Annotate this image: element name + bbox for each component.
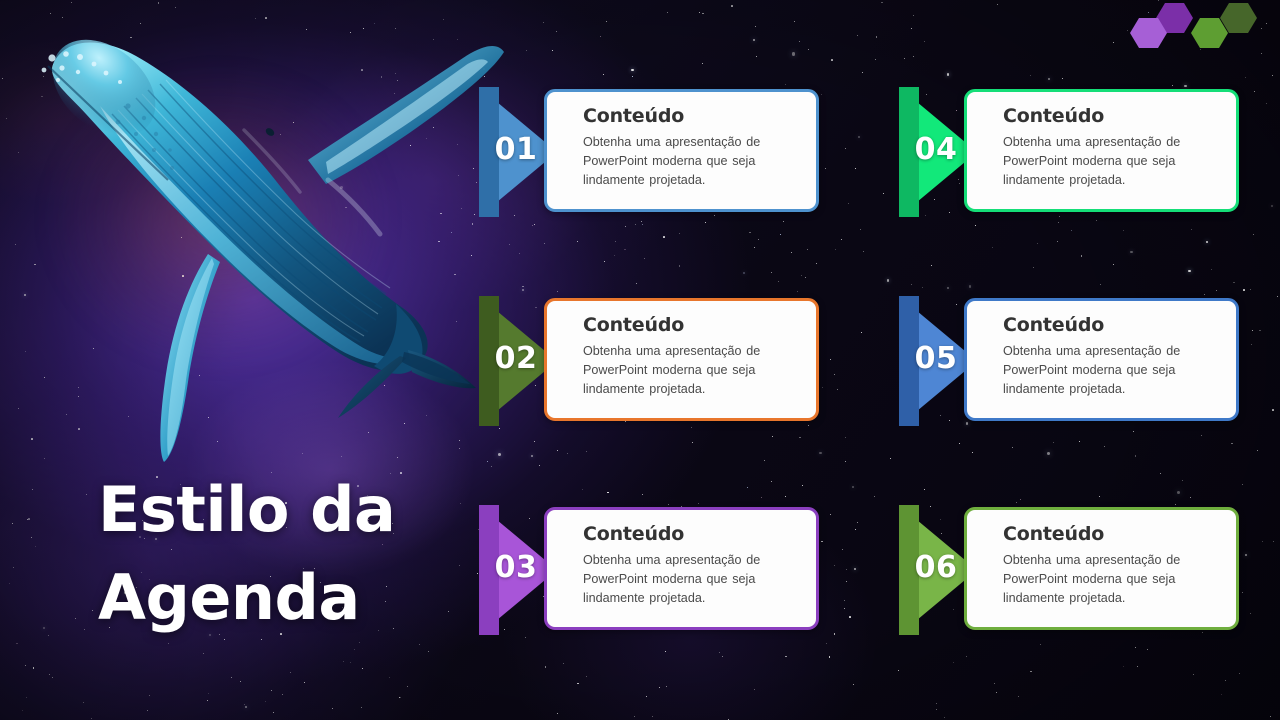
item-card: Conteúdo Obtenha uma apresentação de Pow… [544, 89, 819, 212]
item-body: Obtenha uma apresentação de PowerPoint m… [1003, 133, 1222, 190]
agenda-item-05[interactable]: 05 Conteúdo Obtenha uma apresentação de … [899, 294, 1239, 429]
slide-title: Estilo da Agenda [98, 466, 478, 642]
agenda-item-01[interactable]: 01 Conteúdo Obtenha uma apresentação de … [479, 85, 819, 220]
slide-canvas: Estilo da Agenda 01 Conteúdo Obtenha uma… [0, 0, 1280, 720]
item-heading: Conteúdo [1003, 523, 1222, 545]
item-card: Conteúdo Obtenha uma apresentação de Pow… [964, 507, 1239, 630]
hexagon-logo [1128, 0, 1274, 52]
item-card: Conteúdo Obtenha uma apresentação de Pow… [964, 89, 1239, 212]
item-heading: Conteúdo [583, 523, 802, 545]
item-heading: Conteúdo [1003, 314, 1222, 336]
item-body: Obtenha uma apresentação de PowerPoint m… [1003, 551, 1222, 608]
hex-dark-olive-icon [1220, 3, 1257, 33]
hex-green-icon [1191, 18, 1228, 48]
agenda-item-02[interactable]: 02 Conteúdo Obtenha uma apresentação de … [479, 294, 819, 429]
agenda-item-03[interactable]: 03 Conteúdo Obtenha uma apresentação de … [479, 503, 819, 638]
item-body: Obtenha uma apresentação de PowerPoint m… [583, 133, 802, 190]
agenda-item-04[interactable]: 04 Conteúdo Obtenha uma apresentação de … [899, 85, 1239, 220]
item-heading: Conteúdo [583, 314, 802, 336]
item-heading: Conteúdo [1003, 105, 1222, 127]
item-body: Obtenha uma apresentação de PowerPoint m… [583, 551, 802, 608]
item-body: Obtenha uma apresentação de PowerPoint m… [1003, 342, 1222, 399]
item-heading: Conteúdo [583, 105, 802, 127]
agenda-item-06[interactable]: 06 Conteúdo Obtenha uma apresentação de … [899, 503, 1239, 638]
item-card: Conteúdo Obtenha uma apresentação de Pow… [544, 298, 819, 421]
item-card: Conteúdo Obtenha uma apresentação de Pow… [964, 298, 1239, 421]
item-card: Conteúdo Obtenha uma apresentação de Pow… [544, 507, 819, 630]
item-body: Obtenha uma apresentação de PowerPoint m… [583, 342, 802, 399]
